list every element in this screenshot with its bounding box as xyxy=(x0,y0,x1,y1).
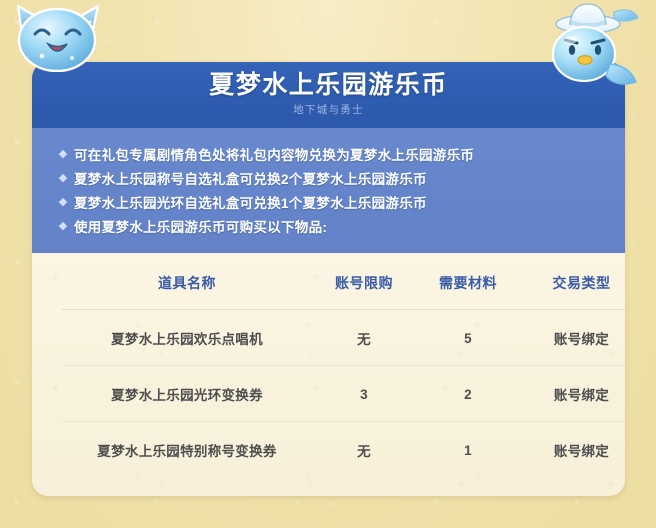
list-item: ◆ 夏梦水上乐园称号自选礼盒可兑换2个夏梦水上乐园游乐币 xyxy=(32,166,625,190)
cell-limit: 3 xyxy=(312,366,416,422)
table-header: 道具名称 账号限购 需要材料 交易类型 xyxy=(62,253,625,310)
cell-limit: 无 xyxy=(312,310,416,366)
table-body: 夏梦水上乐园欢乐点唱机 无 5 账号绑定 夏梦水上乐园光环变换券 3 2 账号绑… xyxy=(62,310,625,478)
table-wrapper: 道具名称 账号限购 需要材料 交易类型 夏梦水上乐园欢乐点唱机 无 5 账号绑定 xyxy=(32,253,625,477)
card-body: 道具名称 账号限购 需要材料 交易类型 夏梦水上乐园欢乐点唱机 无 5 账号绑定 xyxy=(32,253,625,496)
promo-card: 夏梦水上乐园游乐币 地下城与勇士 ◆ 可在礼包专属剧情角色处将礼包内容物兑换为夏… xyxy=(32,62,625,496)
ice-cat-mascot xyxy=(6,0,110,72)
list-item: ◆ 使用夏梦水上乐园游乐币可购买以下物品: xyxy=(32,214,625,238)
bullet-list: ◆ 可在礼包专属剧情角色处将礼包内容物兑换为夏梦水上乐园游乐币 ◆ 夏梦水上乐园… xyxy=(32,128,625,253)
cell-material: 2 xyxy=(416,366,520,422)
cell-trade-type: 账号绑定 xyxy=(520,366,625,422)
list-item-label: 可在礼包专属剧情角色处将礼包内容物兑换为夏梦水上乐园游乐币 xyxy=(74,144,474,164)
table-header-row: 道具名称 账号限购 需要材料 交易类型 xyxy=(62,253,625,310)
column-header-trade-type: 交易类型 xyxy=(520,253,625,310)
diamond-bullet-icon: ◆ xyxy=(52,173,74,184)
diamond-bullet-icon: ◆ xyxy=(52,221,74,232)
table-row: 夏梦水上乐园欢乐点唱机 无 5 账号绑定 xyxy=(62,310,625,366)
page-root: 夏梦水上乐园游乐币 地下城与勇士 ◆ 可在礼包专属剧情角色处将礼包内容物兑换为夏… xyxy=(0,0,656,528)
diamond-bullet-icon: ◆ xyxy=(52,149,74,160)
diamond-bullet-icon: ◆ xyxy=(52,197,74,208)
column-header-item-name: 道具名称 xyxy=(62,253,312,310)
cell-limit: 无 xyxy=(312,422,416,478)
list-item-label: 使用夏梦水上乐园游乐币可购买以下物品: xyxy=(74,216,327,236)
list-item: ◆ 夏梦水上乐园光环自选礼盒可兑换1个夏梦水上乐园游乐币 xyxy=(32,190,625,214)
cell-item-name: 夏梦水上乐园欢乐点唱机 xyxy=(62,310,312,366)
cell-trade-type: 账号绑定 xyxy=(520,310,625,366)
column-header-material: 需要材料 xyxy=(416,253,520,310)
cell-material: 5 xyxy=(416,310,520,366)
list-item-label: 夏梦水上乐园称号自选礼盒可兑换2个夏梦水上乐园游乐币 xyxy=(74,168,427,188)
item-table: 道具名称 账号限购 需要材料 交易类型 夏梦水上乐园欢乐点唱机 无 5 账号绑定 xyxy=(62,253,625,477)
cell-item-name: 夏梦水上乐园特别称号变换券 xyxy=(62,422,312,478)
column-header-limit: 账号限购 xyxy=(312,253,416,310)
table-row: 夏梦水上乐园特别称号变换券 无 1 账号绑定 xyxy=(62,422,625,478)
page-subtitle: 地下城与勇士 xyxy=(32,100,625,117)
cell-material: 1 xyxy=(416,422,520,478)
cell-trade-type: 账号绑定 xyxy=(520,422,625,478)
cell-item-name: 夏梦水上乐园光环变换券 xyxy=(62,366,312,422)
list-item-label: 夏梦水上乐园光环自选礼盒可兑换1个夏梦水上乐园游乐币 xyxy=(74,192,427,212)
table-row: 夏梦水上乐园光环变换券 3 2 账号绑定 xyxy=(62,366,625,422)
ice-bird-mascot xyxy=(532,0,648,90)
list-item: ◆ 可在礼包专属剧情角色处将礼包内容物兑换为夏梦水上乐园游乐币 xyxy=(32,142,625,166)
